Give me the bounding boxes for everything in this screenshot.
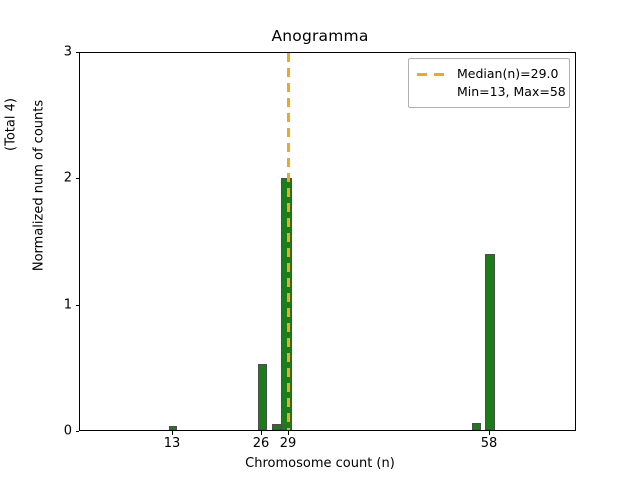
plot-area (79, 52, 576, 431)
xtick-label-58: 58 (481, 436, 498, 451)
xtick-mark-13 (172, 431, 173, 435)
dashed-line-icon (417, 67, 449, 81)
bar-27 (272, 424, 281, 430)
median-line (287, 53, 291, 430)
legend-entry-minmax: Min=13, Max=58 (417, 82, 561, 100)
xtick-mark-26 (261, 431, 262, 435)
legend-label-median: Median(n)=29.0 (457, 66, 558, 81)
chart-title: Anogramma (0, 27, 640, 45)
legend: Median(n)=29.0 Min=13, Max=58 (408, 58, 570, 108)
xtick-mark-58 (489, 431, 490, 435)
xtick-label-13: 13 (164, 436, 181, 451)
ytick-label-0: 0 (0, 424, 72, 439)
legend-empty-marker (417, 84, 449, 98)
yaxis-total-label: (Total 4) (4, 45, 19, 205)
ytick-mark-0 (76, 431, 80, 432)
legend-label-minmax: Min=13, Max=58 (457, 84, 566, 99)
bar-58 (485, 254, 495, 430)
xtick-mark-29 (288, 431, 289, 435)
matplotlib-figure: Anogramma 0 1 2 3 Normalized num of coun… (0, 0, 640, 480)
yaxis-label: Normalized num of counts (32, 36, 47, 336)
xtick-label-29: 29 (280, 436, 297, 451)
xaxis-label: Chromosome count (n) (0, 456, 640, 471)
bar-56 (472, 423, 481, 430)
bar-26 (258, 364, 267, 430)
bar-13 (169, 426, 177, 430)
legend-entry-median: Median(n)=29.0 (417, 65, 561, 82)
xtick-label-26: 26 (253, 436, 270, 451)
